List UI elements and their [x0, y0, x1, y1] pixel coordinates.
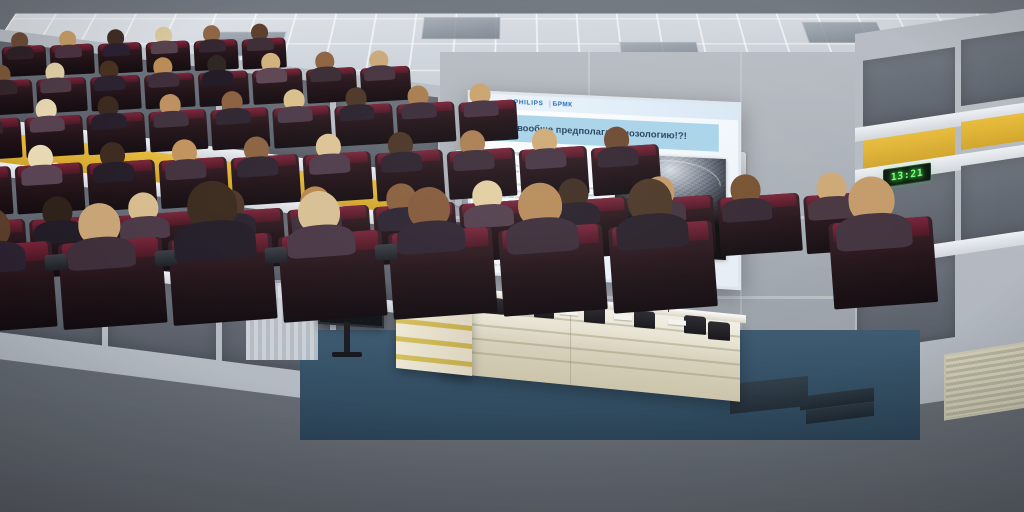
audience-person [99, 60, 119, 80]
audience-person [11, 32, 29, 50]
audience-person [45, 62, 65, 82]
monitor-stand [344, 322, 350, 354]
audience-person [406, 185, 451, 224]
audience-person [0, 64, 11, 84]
panel-chair[interactable] [634, 310, 655, 329]
air-vent-grille [944, 341, 1024, 420]
audience-person [127, 191, 159, 223]
audience-person [729, 173, 761, 205]
audience-person [41, 195, 73, 224]
audience-person [171, 139, 198, 166]
audience-person [221, 91, 243, 113]
lectern-stripe [396, 318, 472, 331]
desk-panel-seam [570, 303, 571, 385]
auditorium-photo: 13:21 PHILIPS БРМК Зачем вообще предпола… [0, 0, 1024, 512]
audience-person [203, 25, 221, 43]
ceiling-light [421, 17, 501, 39]
panel-chair[interactable] [684, 315, 706, 335]
audience-person [407, 85, 429, 107]
audience-person [345, 87, 367, 109]
audience-person [369, 50, 389, 70]
audience-person [469, 83, 491, 105]
desk-groove [440, 334, 740, 365]
audience-person [816, 171, 848, 203]
lectern-stripe [396, 354, 472, 367]
audience-person [155, 26, 173, 44]
audience-person [107, 29, 125, 47]
audience-person [603, 126, 630, 153]
monitor-base [332, 352, 362, 357]
audience-person [59, 30, 77, 48]
lectern-stripe [396, 336, 472, 349]
wall-panel [961, 153, 1024, 242]
audience-person [153, 57, 173, 77]
audience-person [296, 189, 341, 224]
audience-person [847, 175, 896, 224]
wall-panel [961, 27, 1024, 106]
audience-person [251, 23, 269, 41]
audience-person [315, 133, 342, 160]
audience-person [387, 131, 414, 158]
audience-person [459, 129, 486, 156]
audience-person [557, 177, 589, 209]
audience-person [626, 177, 673, 224]
philips-logo: PHILIPS [514, 99, 544, 107]
audience-person [516, 181, 563, 224]
audience-person [261, 52, 281, 72]
audience-person [27, 144, 54, 171]
audience-person [185, 179, 239, 224]
audience-person [315, 51, 335, 71]
auditorium-seat[interactable] [0, 117, 23, 161]
audience-person [99, 141, 126, 168]
audience-person [243, 136, 270, 163]
brmk-logo: БРМК [550, 101, 575, 109]
audience-person [159, 93, 181, 115]
audience-person [35, 98, 57, 120]
audience-person [207, 54, 227, 74]
desk-groove [440, 348, 740, 379]
audience-person [283, 89, 305, 111]
audience-person [531, 128, 558, 155]
panel-chair[interactable] [708, 321, 730, 341]
audience-person [471, 179, 503, 211]
audience-person [77, 202, 122, 224]
audience-person [97, 95, 119, 117]
